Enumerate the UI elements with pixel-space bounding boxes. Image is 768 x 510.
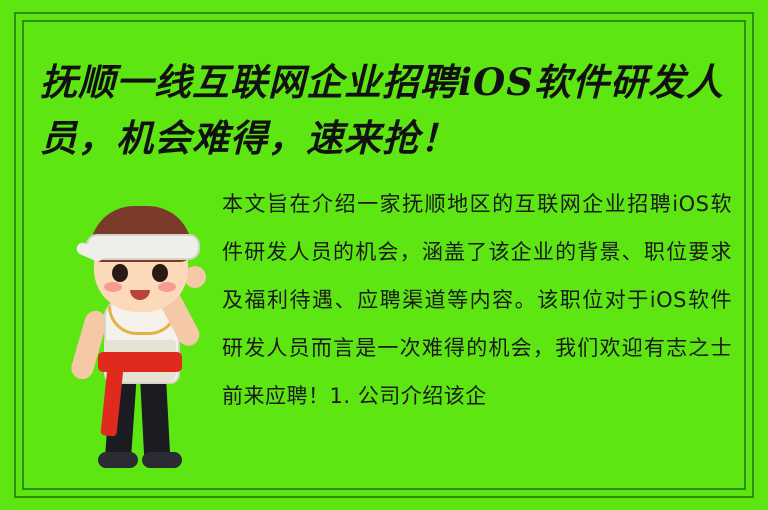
- character-right-eye: [152, 264, 168, 282]
- character-left-shoe: [98, 452, 138, 468]
- character-right-blush: [158, 282, 176, 292]
- character-right-shoe: [142, 452, 182, 468]
- poster-image: 抚顺一线互联网企业招聘iOS软件研发人员，机会难得，速来抢！ 本文旨在介绍一家抚…: [0, 0, 768, 510]
- body-paragraph: 本文旨在介绍一家抚顺地区的互联网企业招聘iOS软件研发人员的机会，涵盖了该企业的…: [222, 180, 732, 420]
- page-title: 抚顺一线互联网企业招聘iOS软件研发人员，机会难得，速来抢！: [40, 54, 740, 166]
- cartoon-character-illustration: [46, 190, 226, 470]
- character-left-eye: [112, 264, 128, 282]
- character-left-blush: [104, 282, 122, 292]
